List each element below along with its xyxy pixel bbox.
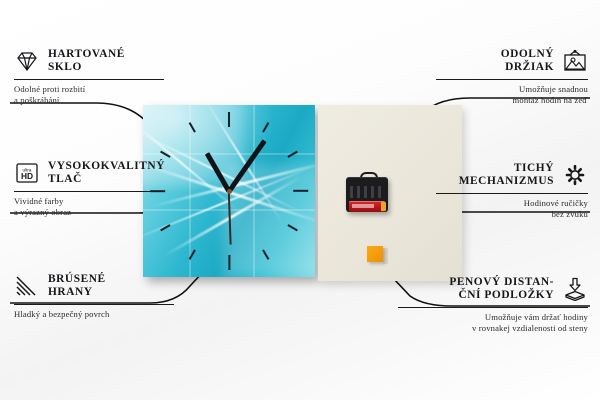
feature-header: BRÚSENÉ HRANY <box>14 273 174 299</box>
title-line-1: VYSOKOKVALITNÝ <box>48 160 165 173</box>
feature-title: VYSOKOKVALITNÝ TLAČ <box>48 160 165 186</box>
clock-movement <box>346 172 388 212</box>
title-line-2: SKLO <box>48 61 125 74</box>
title-line-1: HARTOVANÉ <box>48 48 125 61</box>
title-line-1: ODOLNÝ <box>501 48 554 61</box>
feature-header: PENOVÝ DISTAN- ČNÍ PODLOŽKY <box>398 276 588 302</box>
feature-description: Umožňuje vám držať hodiny v rovnakej vzd… <box>398 312 588 335</box>
feature-title: HARTOVANÉ SKLO <box>48 48 125 74</box>
desc-line-2: bez zvuku <box>436 209 588 221</box>
title-line-2: TLAČ <box>48 173 165 186</box>
desc-line-1: Umožňuje snadnou <box>436 84 588 96</box>
feature-title: PENOVÝ DISTAN- ČNÍ PODLOŽKY <box>449 276 554 302</box>
desc-line-2: montáž hodin na zeď <box>436 95 588 107</box>
feature-header: TICHÝ MECHANIZMUS <box>436 162 588 188</box>
battery-label <box>352 204 374 208</box>
divider <box>14 191 164 192</box>
feature-title: ODOLNÝ DRŽIAK <box>501 48 554 74</box>
infographic-canvas: HARTOVANÉ SKLO Odolné proti rozbití a po… <box>0 0 600 400</box>
feature-description: Vividné farby a výrazný obraz <box>14 196 164 219</box>
desc-line-1: Hladký a bezpečný povrch <box>14 309 174 321</box>
gear-icon <box>562 163 588 187</box>
divider <box>436 193 588 194</box>
wall-clock-product <box>143 105 315 277</box>
feature-tichy-mechanizmus: TICHÝ MECHANIZMUS Hodinové ručičky bez z… <box>436 162 588 221</box>
desc-line-1: Umožňuje vám držať hodiny <box>398 312 588 324</box>
desc-line-1: Hodinové ručičky <box>436 198 588 210</box>
title-line-1: BRÚSENÉ <box>48 273 106 286</box>
divider <box>14 79 164 80</box>
title-line-2: HRANY <box>48 286 106 299</box>
feature-penove-podlozky: PENOVÝ DISTAN- ČNÍ PODLOŽKY Umožňuje vám… <box>398 276 588 335</box>
divider <box>398 307 588 308</box>
battery-positive-cap <box>381 202 386 211</box>
feature-description: Hodinové ručičky bez zvuku <box>436 198 588 221</box>
desc-line-2: v rovnakej vzdialenosti od steny <box>398 323 588 335</box>
diamond-icon <box>14 49 40 73</box>
foam-pad-icon <box>562 277 588 301</box>
title-line-1: PENOVÝ DISTAN- <box>449 276 554 289</box>
movement-body <box>346 177 388 212</box>
title-line-2: MECHANIZMUS <box>459 175 554 188</box>
title-line-2: DRŽIAK <box>501 61 554 74</box>
ultra-hd-icon: ultra HD <box>14 161 40 185</box>
desc-line-2: a poškrábání <box>14 95 164 107</box>
title-line-2: ČNÍ PODLOŽKY <box>449 289 554 302</box>
feature-description: Umožňuje snadnou montáž hodin na zeď <box>436 84 588 107</box>
movement-label <box>350 186 384 198</box>
foam-spacer-pad <box>367 246 383 262</box>
feature-header: ultra HD VYSOKOKVALITNÝ TLAČ <box>14 160 164 186</box>
feature-odolny-drziak: ODOLNÝ DRŽIAK Umožňuje snadnou montáž ho… <box>436 48 588 107</box>
desc-line-1: Vividné farby <box>14 196 164 208</box>
feature-title: TICHÝ MECHANIZMUS <box>459 162 554 188</box>
feature-title: BRÚSENÉ HRANY <box>48 273 106 299</box>
feature-brusene-hrany: BRÚSENÉ HRANY Hladký a bezpečný povrch <box>14 273 174 320</box>
feature-vysokokvalitny-tlac: ultra HD VYSOKOKVALITNÝ TLAČ Vividné far… <box>14 160 164 219</box>
desc-line-2: a výrazný obraz <box>14 207 164 219</box>
foam-pad-shadow <box>383 248 388 264</box>
feature-header: ODOLNÝ DRŽIAK <box>436 48 588 74</box>
aa-battery <box>349 201 385 212</box>
svg-text:HD: HD <box>21 171 33 181</box>
title-line-1: TICHÝ <box>459 162 554 175</box>
desc-line-1: Odolné proti rozbití <box>14 84 164 96</box>
beveled-edge-icon <box>14 274 40 298</box>
feature-description: Hladký a bezpečný povrch <box>14 309 174 321</box>
feature-header: HARTOVANÉ SKLO <box>14 48 164 74</box>
divider <box>436 79 588 80</box>
picture-hanger-icon <box>562 49 588 73</box>
feature-description: Odolné proti rozbití a poškrábání <box>14 84 164 107</box>
divider <box>14 304 174 305</box>
clock-center-pin <box>227 189 232 194</box>
feature-hartovane-sklo: HARTOVANÉ SKLO Odolné proti rozbití a po… <box>14 48 164 107</box>
